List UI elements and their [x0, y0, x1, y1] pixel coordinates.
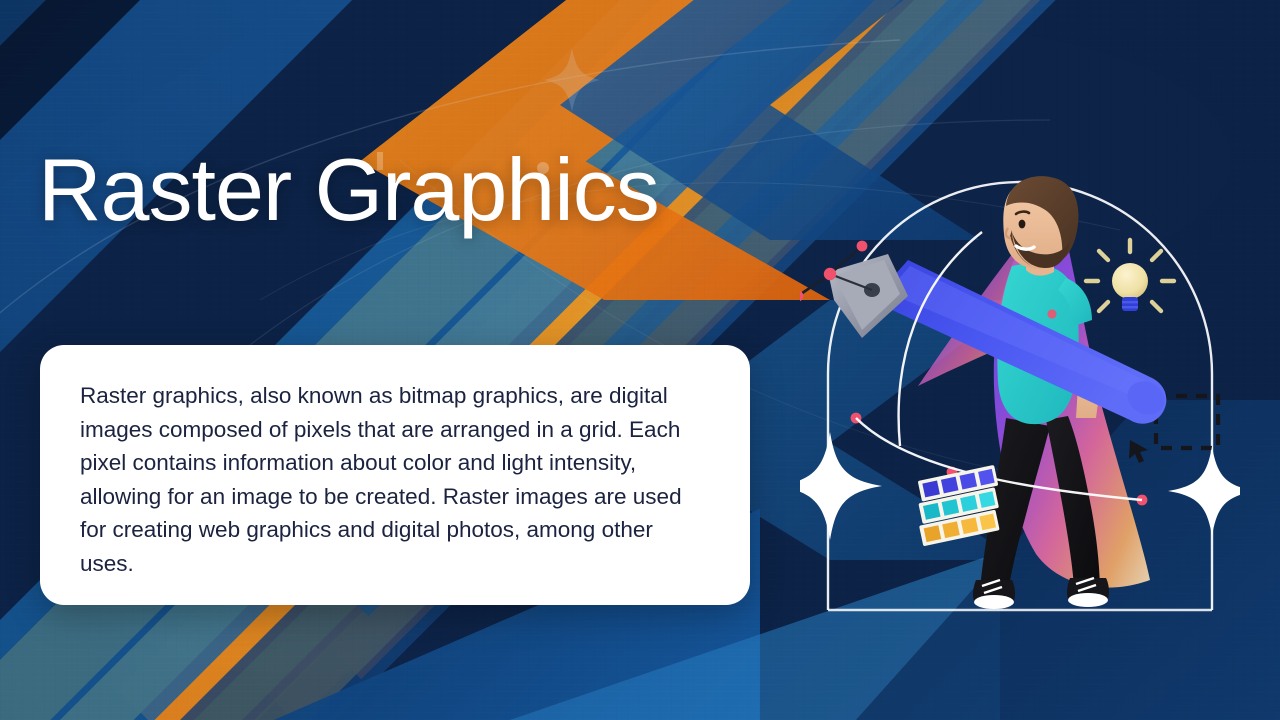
body-text-card: Raster graphics, also known as bitmap gr… — [40, 345, 750, 605]
sneaker-left — [973, 580, 1015, 609]
sparkle-right-icon — [1168, 446, 1240, 536]
designer-illustration — [800, 150, 1240, 630]
sparkle-left-icon — [800, 432, 882, 540]
page-title: Raster Graphics — [38, 143, 659, 236]
sneaker-right — [1067, 578, 1109, 607]
body-paragraph: Raster graphics, also known as bitmap gr… — [80, 379, 710, 580]
light-bulb-icon — [1086, 240, 1174, 311]
slide-root: Raster Graphics Raster graphics, also kn… — [0, 0, 1280, 720]
